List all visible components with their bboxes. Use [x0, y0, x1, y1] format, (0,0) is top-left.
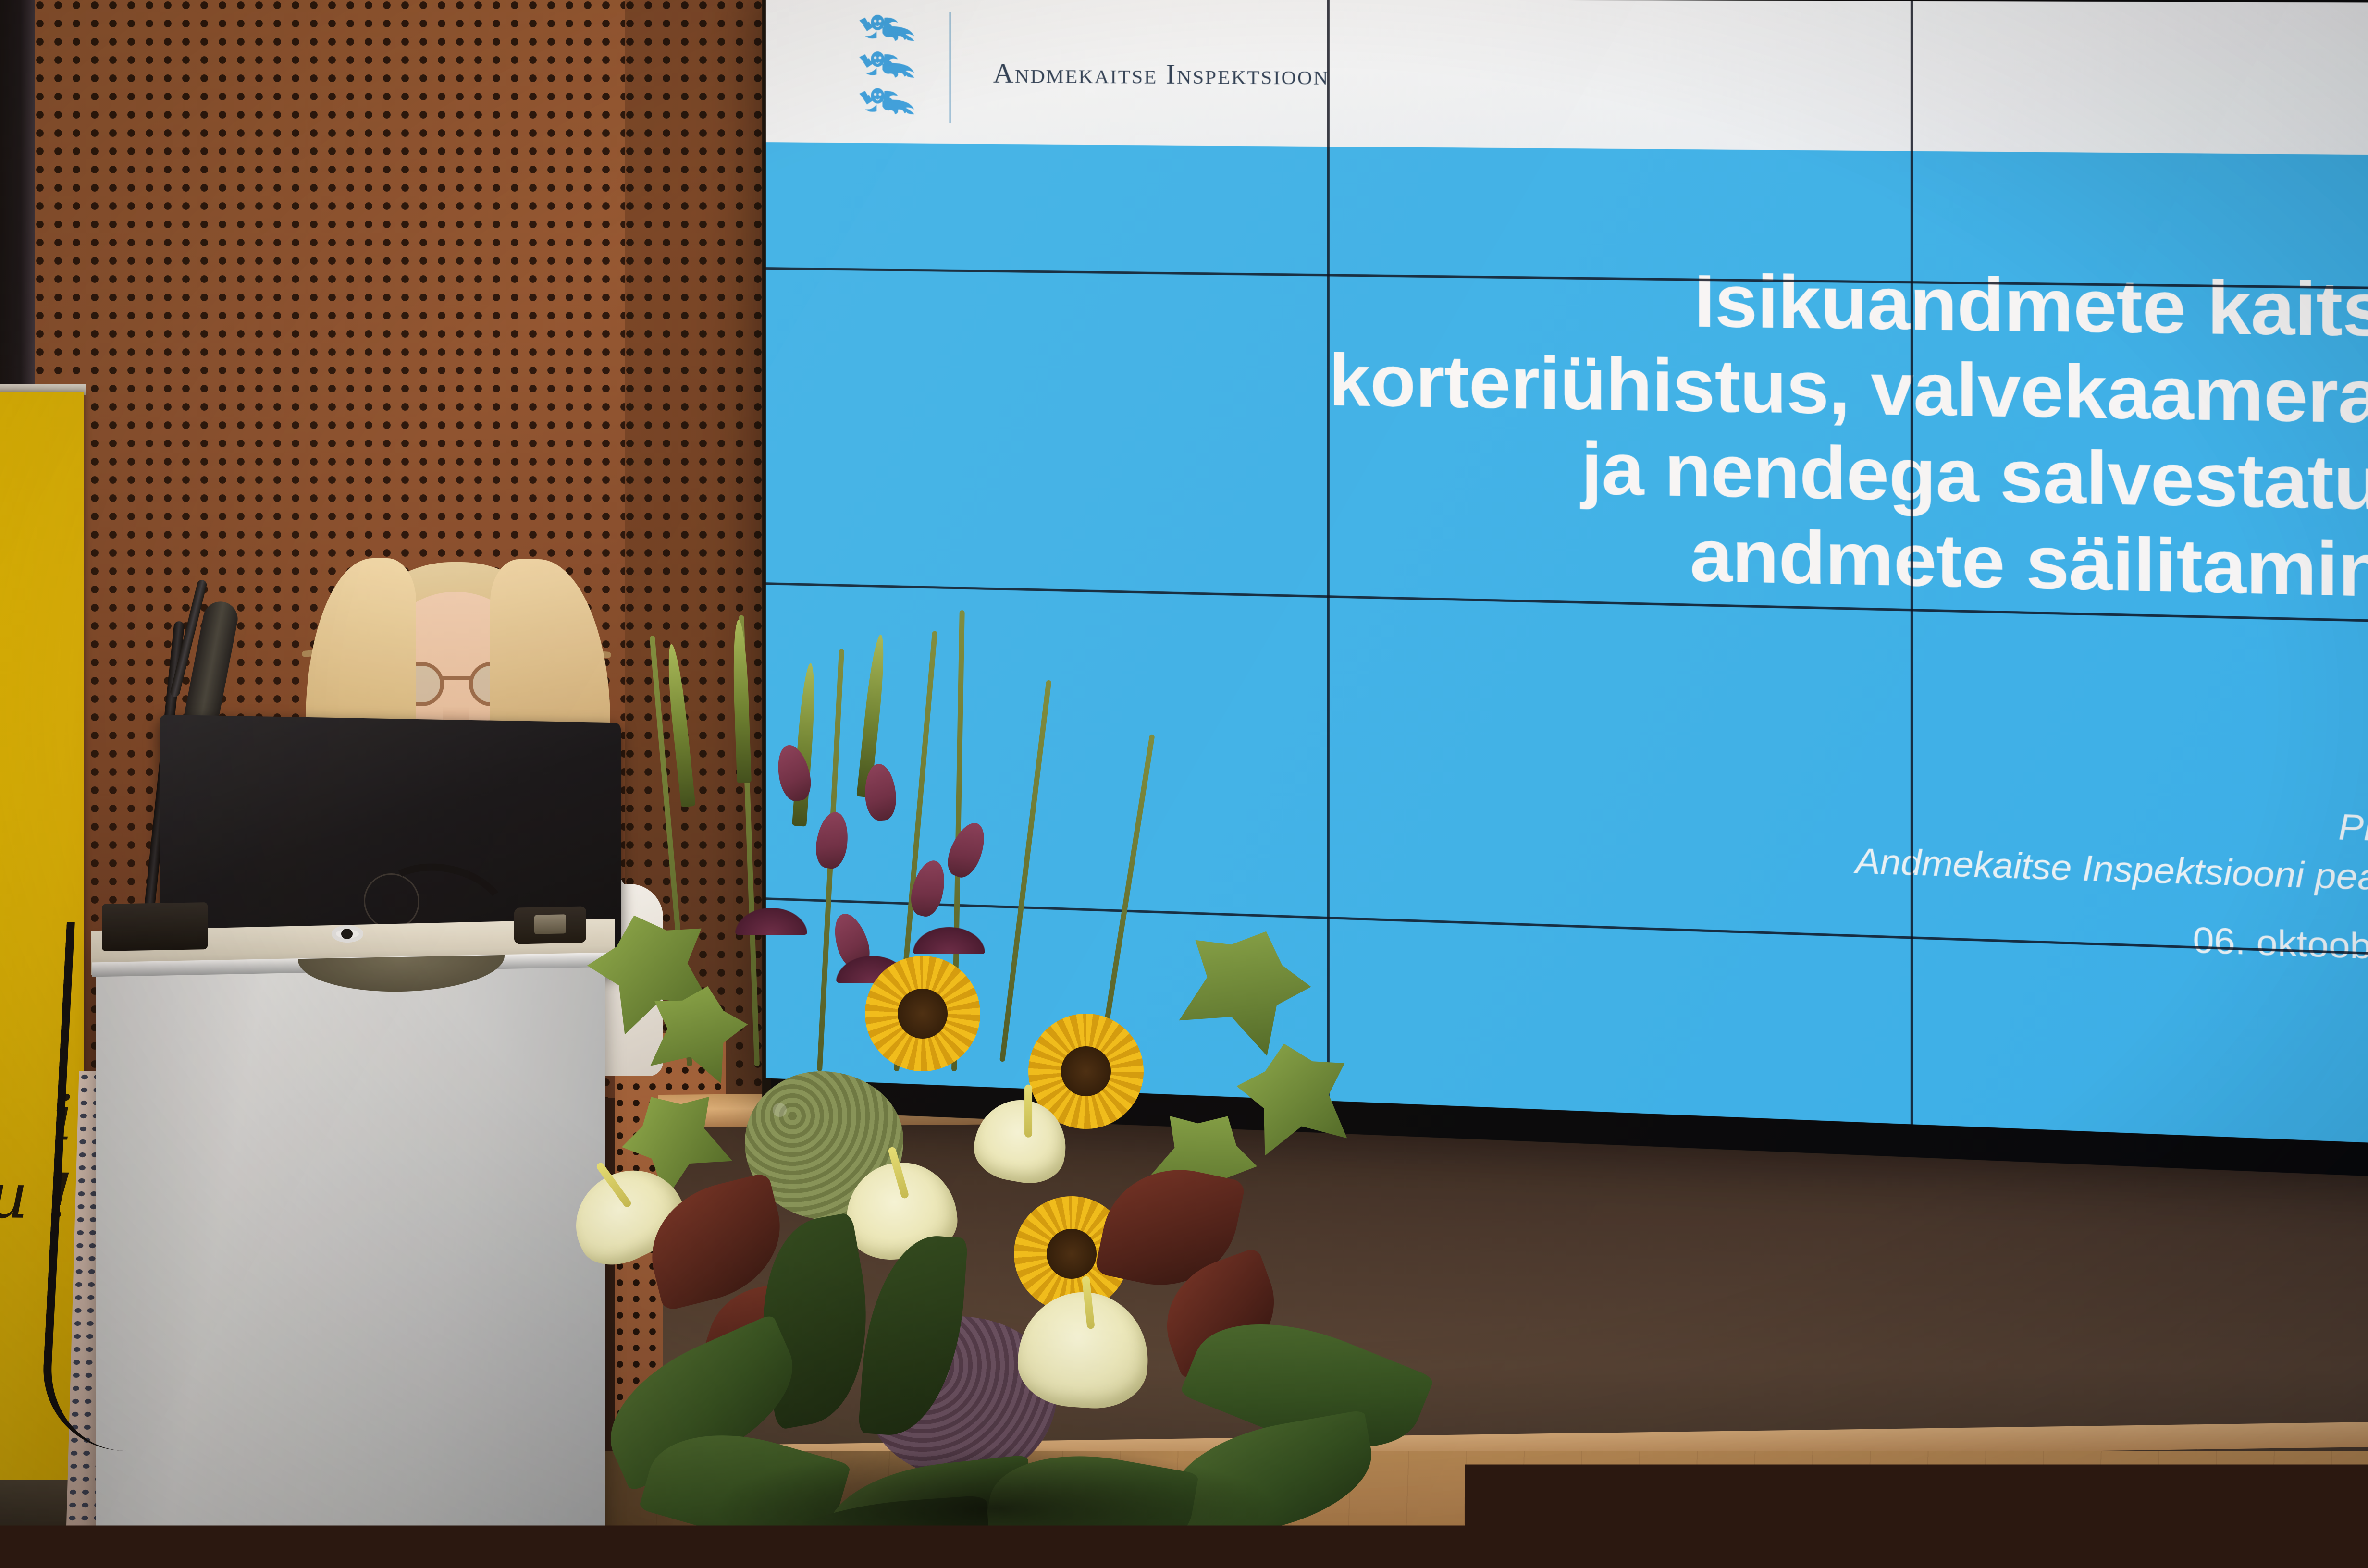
- organization-name: Andmekaitse Inspektsioon: [993, 57, 1330, 91]
- sunflower-disc: [1047, 1229, 1097, 1279]
- gladiolus-spike: [792, 662, 818, 826]
- arrangement-shadow: [711, 1446, 1278, 1568]
- cable-grommet: [332, 925, 363, 943]
- ivy-leaf: [1230, 1032, 1360, 1158]
- gladiolus-bud: [942, 818, 992, 882]
- branding-divider: [950, 12, 951, 123]
- anthurium-bloom: [1015, 1288, 1152, 1412]
- gladiolus-spike: [731, 620, 752, 784]
- glasses-bridge: [443, 676, 471, 680]
- slide-date: 06. oktoobril 202: [2193, 920, 2368, 971]
- flower-stem: [999, 680, 1051, 1062]
- conference-photo-scene: Andmekaitse Inspektsioon Isikuandmete ka…: [0, 0, 2368, 1568]
- slide-title: Isikuandmete kaitse korteriühistus, valv…: [766, 248, 2368, 615]
- gladiolus-bud: [813, 810, 851, 870]
- estonian-coat-of-arms-icon: [857, 12, 917, 123]
- slide-speaker-block: Pille Lehi Andmekaitse Inspektsiooni pea…: [1855, 789, 2368, 906]
- flower-arrangement: [529, 620, 1470, 1568]
- slide-branding: [857, 12, 950, 123]
- sunflower-disc: [1061, 1046, 1111, 1096]
- dark-umbel: [735, 908, 807, 935]
- dark-umbel: [913, 927, 985, 954]
- gladiolus-spike: [664, 643, 695, 807]
- sunflower-disc: [898, 989, 948, 1039]
- ivy-leaf: [1165, 908, 1324, 1062]
- bezel-seam-vertical-2: [1911, 1, 1913, 1125]
